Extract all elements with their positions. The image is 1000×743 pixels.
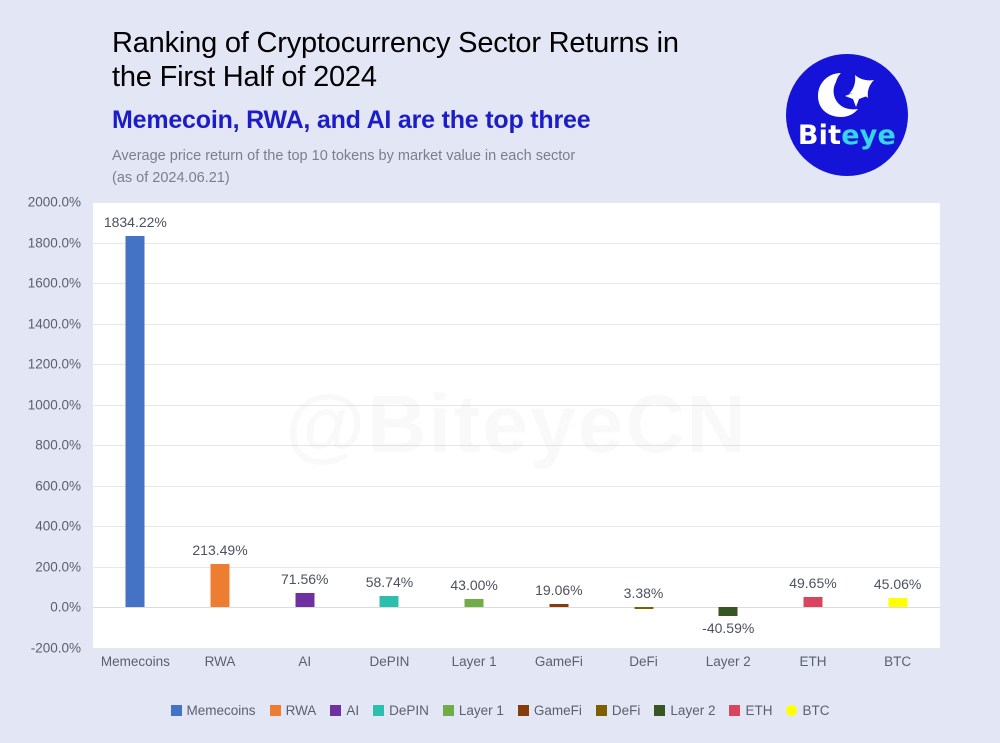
legend-label: Memecoins	[187, 703, 256, 718]
bar-value-label: 3.38%	[624, 585, 664, 601]
bar-value-label: 71.56%	[281, 571, 328, 587]
bar-value-label: 45.06%	[874, 576, 921, 592]
legend-swatch-icon	[596, 705, 607, 716]
legend-item[interactable]: GameFi	[518, 703, 582, 718]
legend-label: DeFi	[612, 703, 641, 718]
crescent-sparkle-icon	[815, 71, 877, 119]
x-axis-tick-label: Memecoins	[101, 654, 170, 669]
legend-item[interactable]: Layer 1	[443, 703, 504, 718]
x-axis-tick-label: BTC	[884, 654, 911, 669]
bar[interactable]	[549, 604, 568, 608]
gridline	[93, 648, 940, 649]
legend-item[interactable]: BTC	[786, 703, 829, 718]
logo-text-eye: eye	[841, 120, 896, 151]
legend-swatch-icon	[443, 705, 454, 716]
legend-label: RWA	[286, 703, 317, 718]
bar-value-label: 1834.22%	[104, 214, 167, 230]
chart-note-line-2: (as of 2024.06.21)	[112, 168, 802, 190]
y-axis-tick-label: 1600.0%	[28, 276, 81, 291]
bar-group[interactable]: 49.65%	[771, 202, 856, 648]
bar-value-label: 58.74%	[366, 574, 413, 590]
legend-item[interactable]: DeFi	[596, 703, 641, 718]
bar-value-label: -40.59%	[702, 620, 754, 636]
legend-swatch-icon	[270, 705, 281, 716]
logo-wordmark: Biteye	[786, 120, 908, 151]
bar-value-label: 19.06%	[535, 582, 582, 598]
x-axis-tick-label: Layer 2	[706, 654, 751, 669]
legend-item[interactable]: Layer 2	[654, 703, 715, 718]
legend-label: ETH	[745, 703, 772, 718]
plot-area: @BiteyeCN 1834.22%213.49%71.56%58.74%43.…	[93, 202, 940, 648]
x-axis-tick-label: DePIN	[370, 654, 410, 669]
biteye-logo: Biteye	[786, 54, 908, 176]
bar-group[interactable]: 3.38%	[601, 202, 686, 648]
legend-swatch-icon	[729, 705, 740, 716]
legend-label: GameFi	[534, 703, 582, 718]
legend-swatch-icon	[518, 705, 529, 716]
y-axis-tick-label: 1000.0%	[28, 397, 81, 412]
bar[interactable]	[719, 607, 738, 615]
bar[interactable]	[295, 593, 314, 608]
page-title: Ranking of Cryptocurrency Sector Returns…	[112, 26, 802, 94]
legend-swatch-icon	[330, 705, 341, 716]
chart-legend: MemecoinsRWAAIDePINLayer 1GameFiDeFiLaye…	[0, 703, 1000, 718]
legend-item[interactable]: RWA	[270, 703, 317, 718]
bar-group[interactable]: 43.00%	[432, 202, 517, 648]
x-axis: MemecoinsRWAAIDePINLayer 1GameFiDeFiLaye…	[93, 654, 940, 680]
bar[interactable]	[465, 599, 484, 608]
bar-value-label: 213.49%	[192, 542, 247, 558]
bar[interactable]	[888, 598, 907, 607]
bar-value-label: 43.00%	[450, 577, 497, 593]
bar-group[interactable]: 19.06%	[517, 202, 602, 648]
legend-item[interactable]: DePIN	[373, 703, 429, 718]
legend-swatch-icon	[786, 705, 797, 716]
y-axis-tick-label: 1400.0%	[28, 316, 81, 331]
legend-swatch-icon	[373, 705, 384, 716]
chart-header: Ranking of Cryptocurrency Sector Returns…	[112, 26, 802, 190]
legend-label: AI	[346, 703, 359, 718]
x-axis-tick-label: GameFi	[535, 654, 583, 669]
bar[interactable]	[380, 596, 399, 608]
bar-group[interactable]: 71.56%	[262, 202, 347, 648]
legend-swatch-icon	[654, 705, 665, 716]
x-axis-tick-label: DeFi	[629, 654, 658, 669]
y-axis: 2000.0%1800.0%1600.0%1400.0%1200.0%1000.…	[0, 202, 88, 648]
legend-item[interactable]: ETH	[729, 703, 772, 718]
legend-label: DePIN	[389, 703, 429, 718]
y-axis-tick-label: 800.0%	[35, 438, 81, 453]
legend-label: Layer 1	[459, 703, 504, 718]
y-axis-tick-label: -200.0%	[31, 641, 81, 656]
bar-group[interactable]: -40.59%	[686, 202, 771, 648]
bar-group[interactable]: 45.06%	[855, 202, 940, 648]
bar-group[interactable]: 213.49%	[178, 202, 263, 648]
bar-group[interactable]: 58.74%	[347, 202, 432, 648]
legend-item[interactable]: AI	[330, 703, 359, 718]
bar[interactable]	[803, 597, 822, 607]
chart-note-line-1: Average price return of the top 10 token…	[112, 146, 802, 168]
legend-item[interactable]: Memecoins	[171, 703, 256, 718]
y-axis-tick-label: 2000.0%	[28, 195, 81, 210]
bar[interactable]	[634, 607, 653, 609]
bar[interactable]	[126, 236, 145, 608]
legend-label: Layer 2	[670, 703, 715, 718]
legend-swatch-icon	[171, 705, 182, 716]
y-axis-tick-label: 0.0%	[50, 600, 81, 615]
x-axis-tick-label: RWA	[205, 654, 236, 669]
y-axis-tick-label: 1800.0%	[28, 235, 81, 250]
bar[interactable]	[211, 564, 230, 607]
page-subtitle: Memecoin, RWA, and AI are the top three	[112, 106, 802, 135]
y-axis-tick-label: 200.0%	[35, 559, 81, 574]
y-axis-tick-label: 1200.0%	[28, 357, 81, 372]
y-axis-tick-label: 600.0%	[35, 478, 81, 493]
x-axis-tick-label: AI	[298, 654, 311, 669]
bar-value-label: 49.65%	[789, 575, 836, 591]
bars-layer: 1834.22%213.49%71.56%58.74%43.00%19.06%3…	[93, 202, 940, 648]
logo-text-bit: Bit	[798, 120, 841, 151]
y-axis-tick-label: 400.0%	[35, 519, 81, 534]
chart-page: Ranking of Cryptocurrency Sector Returns…	[0, 0, 1000, 743]
x-axis-tick-label: Layer 1	[452, 654, 497, 669]
legend-label: BTC	[802, 703, 829, 718]
x-axis-tick-label: ETH	[799, 654, 826, 669]
bar-group[interactable]: 1834.22%	[93, 202, 178, 648]
